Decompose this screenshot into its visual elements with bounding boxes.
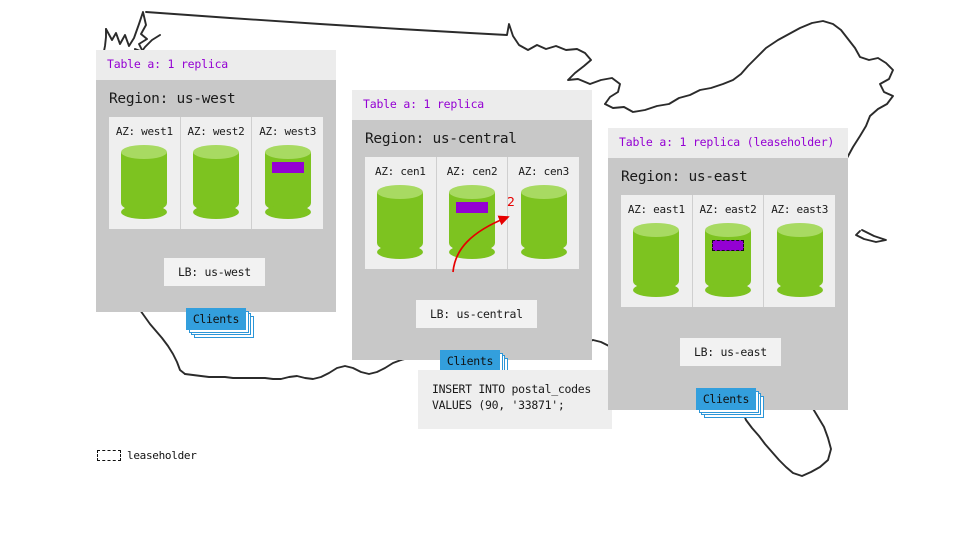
diagram-canvas: Table a: 1 replica Region: us-west AZ: w… — [0, 0, 960, 540]
az-cell-west1[interactable]: AZ: west1 — [109, 117, 181, 229]
az-label-west3: AZ: west3 — [259, 125, 316, 138]
replica-badge-west3 — [272, 162, 304, 173]
node-cylinder-west2[interactable] — [193, 145, 239, 219]
clients-button-us-east[interactable]: Clients — [696, 388, 756, 410]
node-cylinder-east1[interactable] — [633, 223, 679, 297]
cylinder-top — [705, 223, 751, 237]
cylinder-bottom — [705, 283, 751, 297]
cylinder-bottom — [449, 245, 495, 259]
az-row-us-central: AZ: cen1 AZ: cen2 — [365, 157, 579, 269]
node-cylinder-cen3[interactable] — [521, 185, 567, 259]
annotation-step-2: 2 — [507, 194, 515, 209]
node-cylinder-cen1[interactable] — [377, 185, 423, 259]
legend: leaseholder — [97, 449, 197, 462]
node-cylinder-cen2[interactable] — [449, 185, 495, 259]
az-row-us-west: AZ: west1 AZ: west2 AZ — [109, 117, 323, 229]
node-cylinder-east3[interactable] — [777, 223, 823, 297]
cylinder-body — [633, 230, 679, 290]
cylinder-body — [265, 152, 311, 212]
cylinder-top — [633, 223, 679, 237]
table-replica-header-us-east: Table a: 1 replica (leaseholder) — [608, 128, 848, 158]
replica-badge-cen2 — [456, 202, 488, 213]
region-title-us-west: Region: us-west — [96, 80, 336, 117]
az-row-us-east: AZ: east1 AZ: east2 — [621, 195, 835, 307]
az-cell-cen2[interactable]: AZ: cen2 — [437, 157, 509, 269]
leaseholder-swatch-icon — [97, 450, 121, 461]
cylinder-top — [265, 145, 311, 159]
legend-label-leaseholder: leaseholder — [127, 449, 197, 462]
clients-button-us-central[interactable]: Clients — [440, 350, 500, 372]
cylinder-body — [521, 192, 567, 252]
cylinder-top — [193, 145, 239, 159]
node-cylinder-west1[interactable] — [121, 145, 167, 219]
table-replica-header-us-west: Table a: 1 replica — [96, 50, 336, 80]
cylinder-bottom — [121, 205, 167, 219]
cylinder-bottom — [193, 205, 239, 219]
az-cell-east2[interactable]: AZ: east2 — [693, 195, 765, 307]
az-label-cen1: AZ: cen1 — [375, 165, 426, 178]
load-balancer-us-central[interactable]: LB: us-central — [416, 300, 537, 328]
az-cell-cen1[interactable]: AZ: cen1 — [365, 157, 437, 269]
cylinder-body — [377, 192, 423, 252]
cylinder-bottom — [521, 245, 567, 259]
az-label-east3: AZ: east3 — [771, 203, 828, 216]
region-title-us-east: Region: us-east — [608, 158, 848, 195]
region-panel-us-central: Table a: 1 replica Region: us-central AZ… — [352, 90, 592, 360]
region-panel-us-east: Table a: 1 replica (leaseholder) Region:… — [608, 128, 848, 410]
region-panel-us-west: Table a: 1 replica Region: us-west AZ: w… — [96, 50, 336, 312]
cylinder-top — [777, 223, 823, 237]
az-cell-east1[interactable]: AZ: east1 — [621, 195, 693, 307]
cylinder-body — [777, 230, 823, 290]
az-label-east2: AZ: east2 — [700, 203, 757, 216]
cylinder-body — [705, 230, 751, 290]
node-cylinder-east2[interactable] — [705, 223, 751, 297]
sql-statement-box: INSERT INTO postal_codes VALUES (90, '33… — [418, 370, 612, 429]
az-label-east1: AZ: east1 — [628, 203, 685, 216]
cylinder-body — [193, 152, 239, 212]
region-body-us-west: Region: us-west AZ: west1 AZ: west2 — [96, 80, 336, 312]
load-balancer-us-west[interactable]: LB: us-west — [164, 258, 265, 286]
az-label-cen3: AZ: cen3 — [518, 165, 569, 178]
region-body-us-central: Region: us-central AZ: cen1 AZ: cen2 — [352, 120, 592, 360]
az-label-west1: AZ: west1 — [116, 125, 173, 138]
cylinder-top — [121, 145, 167, 159]
cylinder-top — [449, 185, 495, 199]
az-label-cen2: AZ: cen2 — [447, 165, 498, 178]
cylinder-bottom — [377, 245, 423, 259]
az-cell-west2[interactable]: AZ: west2 — [181, 117, 253, 229]
cylinder-bottom — [265, 205, 311, 219]
az-label-west2: AZ: west2 — [188, 125, 245, 138]
cylinder-body — [121, 152, 167, 212]
clients-stack-us-east[interactable]: Clients — [696, 388, 760, 414]
cylinder-top — [521, 185, 567, 199]
az-cell-west3[interactable]: AZ: west3 — [252, 117, 323, 229]
cylinder-bottom — [777, 283, 823, 297]
region-title-us-central: Region: us-central — [352, 120, 592, 157]
clients-button-us-west[interactable]: Clients — [186, 308, 246, 330]
leaseholder-replica-badge-east2 — [712, 240, 744, 251]
node-cylinder-west3[interactable] — [265, 145, 311, 219]
table-replica-header-us-central: Table a: 1 replica — [352, 90, 592, 120]
region-body-us-east: Region: us-east AZ: east1 AZ: east2 — [608, 158, 848, 410]
cylinder-top — [377, 185, 423, 199]
az-cell-east3[interactable]: AZ: east3 — [764, 195, 835, 307]
cylinder-bottom — [633, 283, 679, 297]
clients-stack-us-west[interactable]: Clients — [186, 308, 250, 334]
cylinder-body — [449, 192, 495, 252]
load-balancer-us-east[interactable]: LB: us-east — [680, 338, 781, 366]
az-cell-cen3[interactable]: AZ: cen3 — [508, 157, 579, 269]
